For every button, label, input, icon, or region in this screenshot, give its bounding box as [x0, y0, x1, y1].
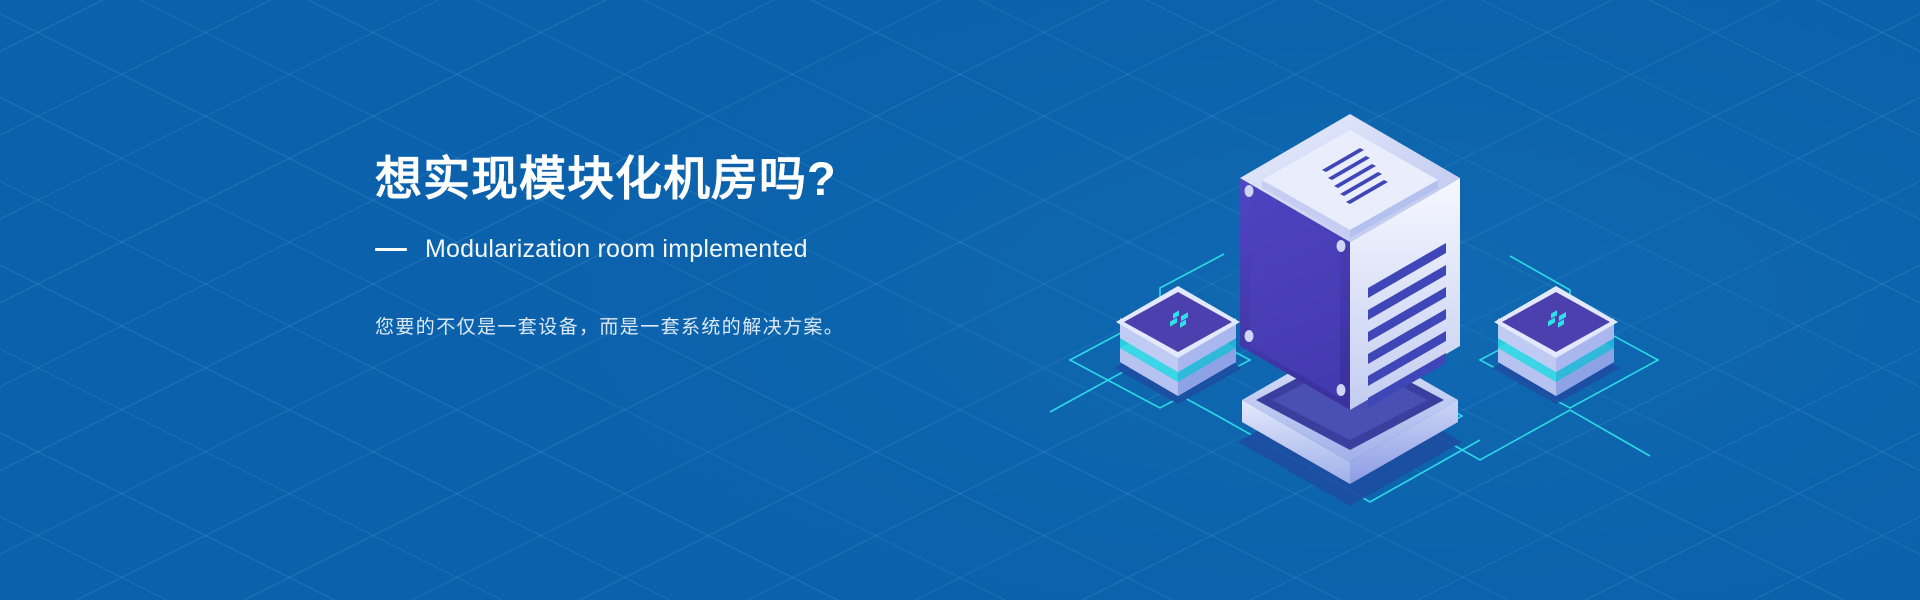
page-title: 想实现模块化机房吗? [375, 150, 1015, 209]
hero-banner: 想实现模块化机房吗? Modularization room implement… [0, 0, 1920, 600]
hero-text-block: 想实现模块化机房吗? Modularization room implement… [375, 150, 1015, 363]
subtitle-row: Modularization room implemented [375, 235, 1015, 264]
isometric-datacenter-illustration [1010, 60, 1690, 540]
dash-divider-icon [375, 248, 407, 251]
server-tower [1240, 114, 1460, 484]
hero-description: 您要的不仅是一套设备，而是一套系统的解决方案。 [375, 312, 1015, 344]
illustration-svg [1010, 60, 1690, 540]
hero-subtitle: Modularization room implemented [425, 235, 808, 264]
